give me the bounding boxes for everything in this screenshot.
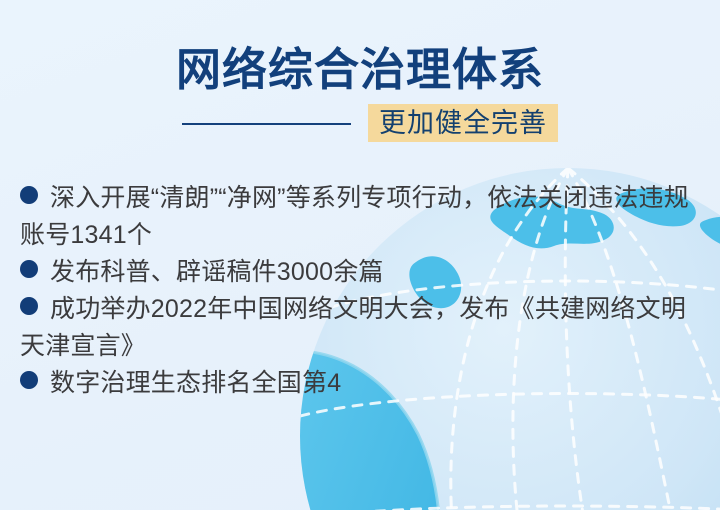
bullet-dot-icon — [20, 186, 38, 204]
list-item-text: 深入开展“清朗”“净网”等系列专项行动，依法关闭违法违规账号1341个 — [20, 184, 689, 249]
bullet-dot-icon — [20, 371, 38, 389]
subtitle-badge: 更加健全完善 — [368, 104, 558, 142]
subtitle-row: 更加健全完善 — [0, 104, 720, 144]
bullet-dot-icon — [20, 297, 38, 315]
list-item-text: 发布科普、辟谣稿件3000余篇 — [50, 258, 384, 286]
list-item: 成功举办2022年中国网络文明大会，发布《共建网络文明天津宣言》 — [20, 291, 710, 365]
bullet-dot-icon — [20, 260, 38, 278]
list-item-text: 成功举办2022年中国网络文明大会，发布《共建网络文明天津宣言》 — [20, 295, 686, 360]
list-item-text: 数字治理生态排名全国第4 — [50, 369, 341, 397]
bullet-list: 深入开展“清朗”“净网”等系列专项行动，依法关闭违法违规账号1341个 发布科普… — [20, 180, 710, 402]
list-item: 深入开展“清朗”“净网”等系列专项行动，依法关闭违法违规账号1341个 — [20, 180, 710, 254]
title-divider-rule — [182, 123, 351, 125]
page-title: 网络综合治理体系 — [0, 44, 720, 96]
list-item: 数字治理生态排名全国第4 — [20, 365, 710, 402]
list-item: 发布科普、辟谣稿件3000余篇 — [20, 254, 710, 291]
poster-canvas: 网络综合治理体系 更加健全完善 深入开展“清朗”“净网”等系列专项行动，依法关闭… — [0, 0, 720, 510]
